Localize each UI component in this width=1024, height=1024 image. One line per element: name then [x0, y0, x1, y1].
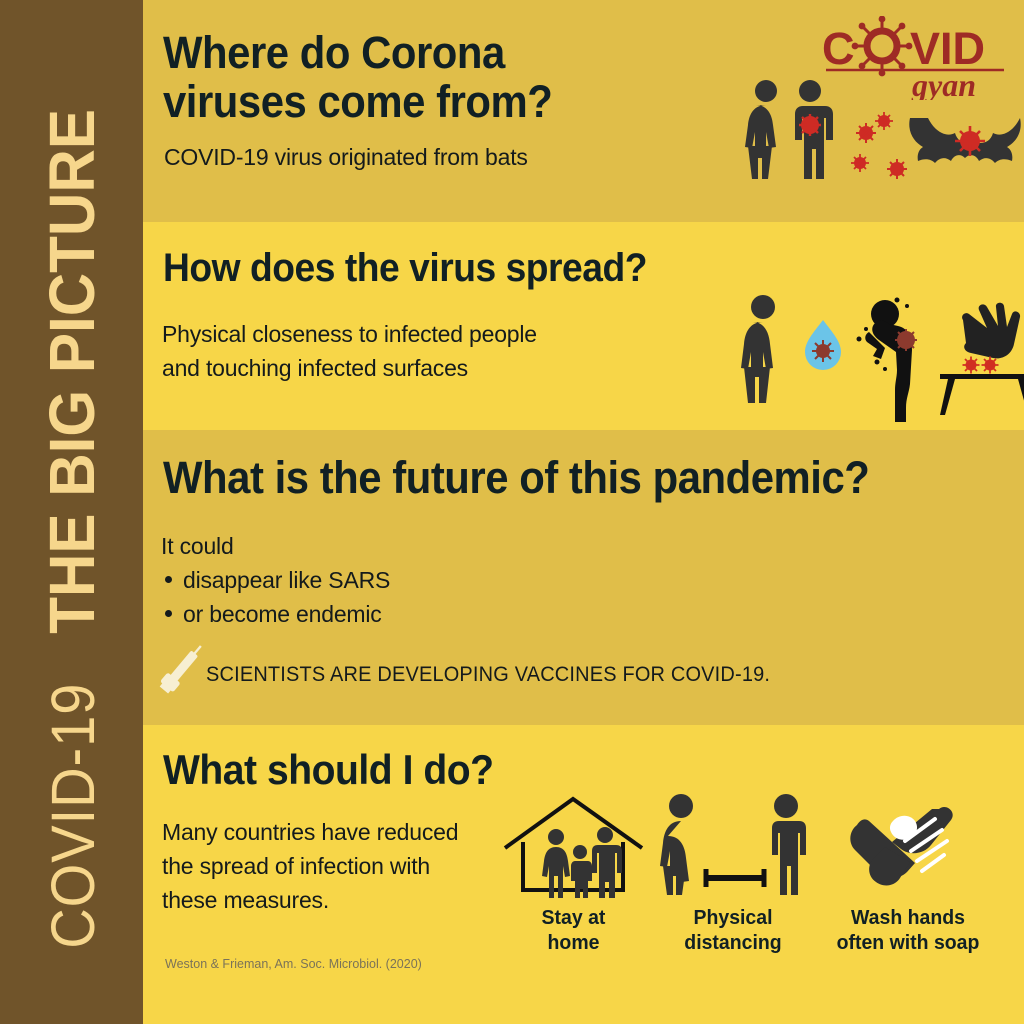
caption-line-1: Stay at [542, 906, 606, 929]
body-line-1: Physical closeness to infected people [162, 321, 537, 347]
heading-line-2: viruses come from? [163, 76, 552, 127]
caption-line-2: home [548, 931, 600, 954]
future-bullet-2-label: or become endemic [183, 601, 382, 627]
bullet-dot-icon [165, 610, 172, 617]
sidebar-title-covid: COVID-19 [38, 683, 108, 949]
section-origin-body: COVID-19 virus originated from bats [164, 144, 528, 171]
body-line-2: and touching infected surfaces [162, 355, 468, 381]
infographic-root: COVID-19 THE BIG PICTURE Where do Corona… [0, 0, 1024, 1024]
body-line-3: these measures. [162, 887, 329, 913]
logo-virus-o-icon [852, 16, 913, 76]
vaccine-development-note: SCIENTISTS ARE DEVELOPING VACCINES FOR C… [206, 663, 770, 687]
body-line-2: the spread of infection with [162, 853, 430, 879]
distance-woman-icon [660, 794, 693, 895]
section-advice-body: Many countries have reduced the spread o… [162, 815, 458, 917]
measure-label-stay-at-home: Stay at home [505, 905, 643, 955]
future-bullet-1: disappear like SARS [161, 567, 390, 594]
covid-gyan-logo[interactable]: C VID [820, 16, 1010, 100]
contaminated-table-icon [940, 374, 1024, 415]
virus-on-man-icon [799, 114, 821, 136]
bat-icon [909, 118, 1020, 163]
sidebar-title-bar: COVID-19 THE BIG PICTURE [0, 0, 143, 1024]
caption-line-2: often with soap [837, 931, 980, 954]
distance-man-icon [772, 794, 806, 895]
section-spread-heading: How does the virus spread? [163, 246, 647, 290]
sidebar-title-big-picture: THE BIG PICTURE [35, 109, 109, 634]
body-line-1: Many countries have reduced [162, 819, 458, 845]
distance-bar-icon [706, 869, 764, 887]
virus-on-cougher-icon [895, 329, 917, 351]
section-advice-heading: What should I do? [163, 747, 494, 793]
future-bullet-1-label: disappear like SARS [183, 567, 390, 593]
main-content: Where do Corona viruses come from? COVID… [143, 0, 1024, 1024]
bullet-dot-icon [165, 576, 172, 583]
logo-letter-c: C [822, 23, 855, 74]
physical-distance-icon [656, 793, 811, 898]
hand-icon [962, 303, 1020, 359]
future-bullet-2: or become endemic [161, 601, 382, 628]
washing-hands-soap-icon [843, 797, 963, 897]
section-advice: What should I do? Many countries have re… [143, 725, 1024, 1024]
caption-line-2: distancing [684, 931, 781, 954]
section-origin-heading: Where do Corona viruses come from? [163, 28, 552, 126]
coughing-person-icon [865, 300, 912, 422]
measure-label-wash-hands: Wash hands often with soap [808, 905, 1008, 955]
section-spread-body: Physical closeness to infected people an… [162, 317, 537, 385]
logo-word-gyan: gyan [911, 67, 976, 100]
house-woman-icon [542, 829, 570, 898]
spread-icon-group [735, 292, 1024, 422]
syringe-icon [155, 638, 203, 706]
surface-virus-icons [963, 357, 999, 374]
house-man-icon [592, 827, 622, 898]
heading-line-1: Where do Corona [163, 27, 505, 78]
droplet-virus-icon [805, 320, 841, 370]
woman-figure-icon [741, 295, 775, 403]
section-origin: Where do Corona viruses come from? COVID… [143, 0, 1024, 222]
sidebar-vertical-title: COVID-19 THE BIG PICTURE [35, 75, 109, 949]
caption-line-1: Physical [693, 906, 772, 929]
caption-line-1: Wash hands [851, 906, 965, 929]
section-spread: How does the virus spread? Physical clos… [143, 222, 1024, 430]
measure-label-physical-distancing: Physical distancing [652, 905, 814, 955]
section-future-heading: What is the future of this pandemic? [163, 454, 869, 502]
section-future: What is the future of this pandemic? It … [143, 430, 1024, 725]
virus-particles-icon [851, 112, 907, 179]
section-future-lead: It could [161, 533, 234, 560]
woman-figure-icon [745, 80, 777, 179]
house-family-icon [501, 793, 646, 898]
citation: Weston & Frieman, Am. Soc. Microbiol. (2… [165, 957, 422, 971]
